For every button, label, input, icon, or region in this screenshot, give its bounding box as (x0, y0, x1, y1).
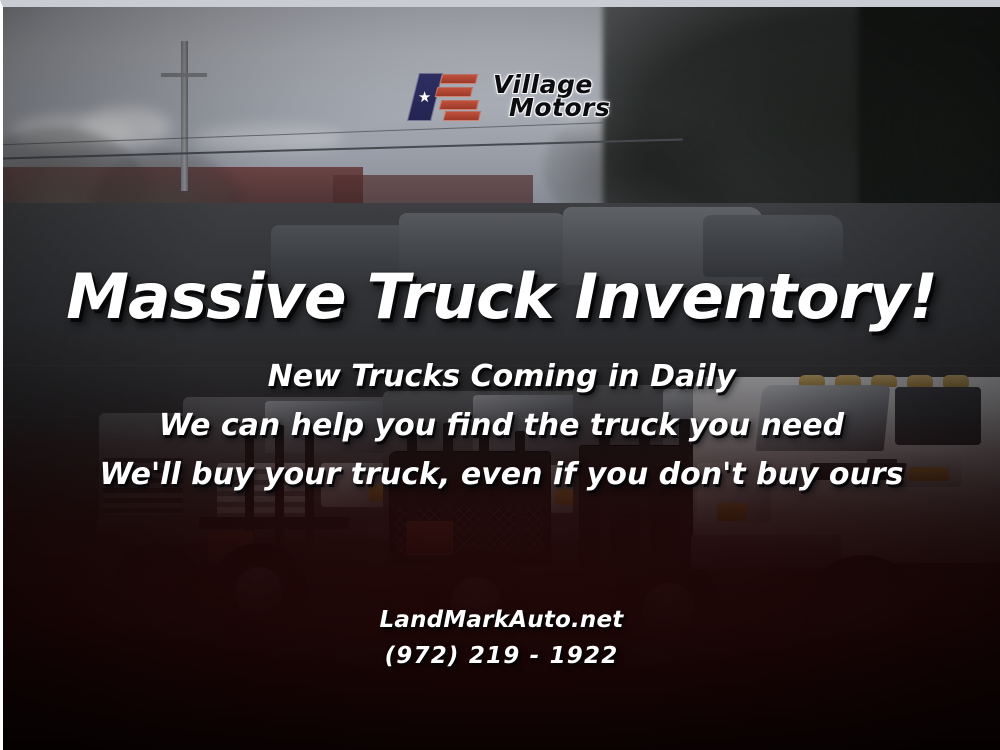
subheadline-help-find: We can help you find the truck you need (3, 408, 1000, 443)
star-icon: ★ (418, 90, 431, 105)
contact-footer: LandMarkAuto.net (972) 219 - 1922 (3, 607, 1000, 669)
headline-container: Massive Truck Inventory! (3, 260, 1000, 333)
logo-word-motors: Motors (509, 96, 610, 119)
truck-inventory-ad-banner: ★ Village Motors Massive Truck Inventory… (0, 0, 1000, 750)
texas-flag-icon: ★ (409, 71, 483, 121)
flag-stripe (439, 100, 479, 110)
website-link[interactable]: LandMarkAuto.net (3, 607, 1000, 633)
subheadline-new-trucks: New Trucks Coming in Daily (3, 359, 1000, 394)
phone-number[interactable]: (972) 219 - 1922 (3, 643, 1000, 669)
headline-text: Massive Truck Inventory! (0, 260, 1000, 333)
subheadline-container: New Trucks Coming in Daily We can help y… (3, 359, 1000, 492)
flag-stripe (440, 74, 478, 84)
flag-stripe (443, 111, 481, 121)
village-motors-logo[interactable]: ★ Village Motors (409, 71, 610, 121)
flag-blue-field: ★ (407, 73, 443, 121)
logo-wordmark: Village Motors (493, 73, 610, 119)
subheadline-buy-truck: We'll buy your truck, even if you don't … (3, 457, 1000, 492)
